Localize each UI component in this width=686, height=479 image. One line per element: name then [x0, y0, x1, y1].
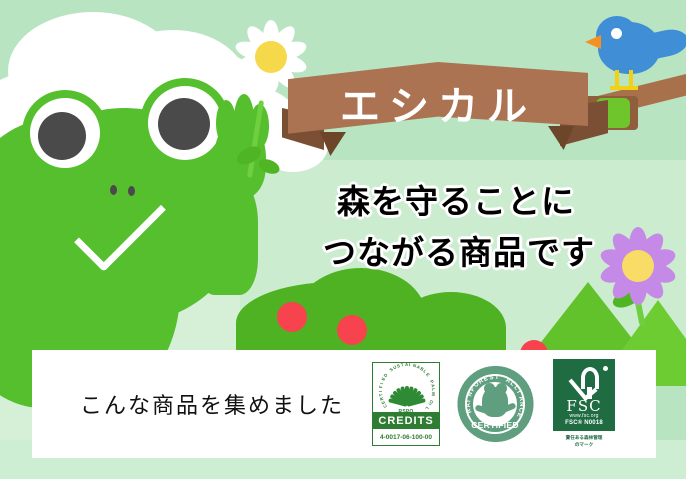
rspo-arc-char: L — [431, 388, 436, 391]
ra-arc-char: T — [495, 374, 499, 381]
frog-nostril — [110, 185, 117, 195]
ra-arc-char: S — [489, 374, 495, 382]
fsc-caption-line-1: 責任ある森林管理 — [550, 435, 618, 442]
fsc-code: FSC® N0018 — [553, 420, 615, 426]
frog-pupil — [38, 112, 86, 160]
rainforest-alliance-logo: RAINFOREST ALLIANCE CERTIFIED — [458, 367, 532, 441]
bird-eye — [611, 28, 622, 39]
headline: 森を守ることに つながる商品です — [286, 176, 626, 278]
rspo-arc-char: A — [405, 362, 409, 367]
red-berry-icon — [277, 302, 307, 332]
rspo-credits-label: CREDITS — [373, 412, 439, 429]
ra-arc-char: A — [465, 403, 473, 408]
palm-tree-icon — [390, 373, 424, 407]
panel-caption: こんな商品を集めました — [80, 388, 344, 420]
ra-arc-char: N — [518, 402, 525, 407]
red-berry-icon — [337, 315, 367, 345]
ra-arc-char: R — [465, 408, 473, 415]
rspo-arc-char: M — [431, 392, 436, 396]
headline-line-2: つながる商品です — [292, 227, 626, 278]
rspo-emblem: CERTIFIED SUSTAINABLE PALM OIL RSPO — [373, 363, 439, 419]
fsc-dot — [603, 366, 608, 371]
ra-arc-char: E — [515, 412, 523, 418]
fsc-badge: FSC www.fsc.org FSC® N0018 — [553, 359, 615, 431]
rspo-arc-char: T — [400, 362, 404, 367]
ra-arc-char: I — [465, 400, 472, 402]
palm-trunk — [405, 393, 408, 405]
fsc-caption: 責任ある森林管理 のマーク — [550, 435, 618, 449]
headline-line-1: 森を守ることに — [286, 176, 626, 227]
flower-core — [255, 41, 287, 73]
fsc-url: www.fsc.org — [553, 413, 615, 419]
ribbon-label: エシカル — [288, 68, 588, 138]
rspo-arc-char: I — [409, 362, 411, 367]
frog-pupil — [158, 98, 210, 150]
rspo-arc-char: E — [425, 372, 431, 378]
certification-panel: こんな商品を集めました CERTIFIED SUSTAINABLE PALM O… — [32, 350, 656, 458]
fsc-logo: FSC www.fsc.org FSC® N0018 責任ある森林管理 のマーク — [550, 359, 618, 449]
ra-certified-label: CERTIFIED — [458, 420, 532, 430]
ethical-promo-banner: エシカル 森を守ることに つながる商品です こんな商品を集めました CERTIF… — [0, 0, 686, 479]
fsc-caption-line-2: のマーク — [550, 442, 618, 449]
fsc-tree-checkmark-icon — [569, 367, 601, 397]
bird-foot — [624, 86, 638, 90]
rspo-code: 4-0017-06-100-00 — [373, 430, 439, 444]
certification-logos: CERTIFIED SUSTAINABLE PALM OIL RSPO CRED… — [372, 359, 618, 449]
flower-core — [622, 250, 654, 282]
rspo-arc-char: F — [378, 385, 383, 388]
rspo-arc-char: I — [378, 391, 383, 392]
bird-foot — [610, 86, 624, 90]
frog-finger — [216, 100, 236, 146]
tree-crown — [581, 367, 599, 389]
bird-beak — [585, 35, 601, 49]
rspo-logo: CERTIFIED SUSTAINABLE PALM OIL RSPO CRED… — [372, 362, 440, 446]
